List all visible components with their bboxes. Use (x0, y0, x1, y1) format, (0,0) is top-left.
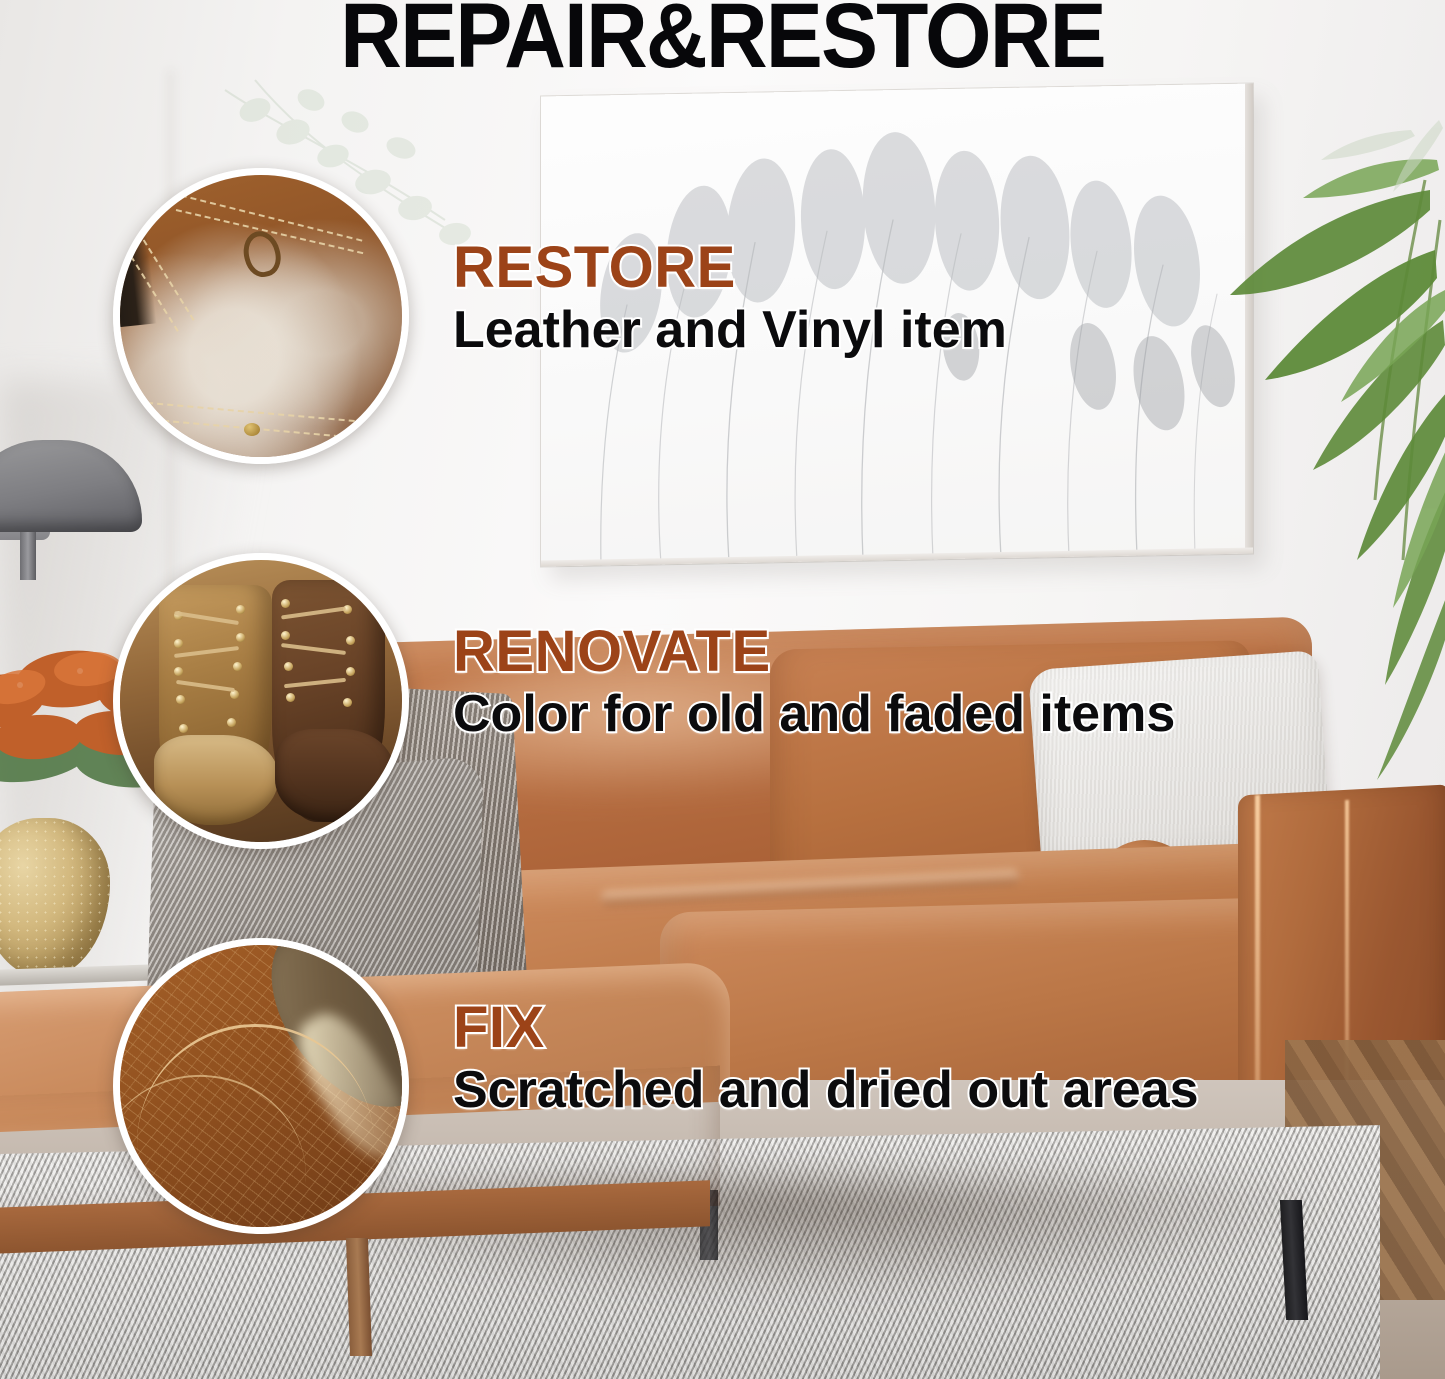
page-title: REPAIR&RESTORE (51, 0, 1395, 89)
eyelet (174, 639, 183, 648)
eyelet (174, 667, 183, 676)
scratched-leather-photo (120, 945, 402, 1227)
eyelet (346, 636, 355, 645)
eyelet (281, 631, 290, 640)
feature-block-fix: FIX Scratched and dried out areas (453, 998, 1199, 1118)
inset-photo-fix (113, 938, 409, 1234)
feature-kicker-fix: FIX (453, 998, 1199, 1058)
eyelet (236, 605, 245, 614)
feature-subtitle-renovate: Color for old and faded items (453, 686, 1175, 742)
eyelet (284, 662, 293, 671)
moldy-leather-bag-photo (120, 175, 402, 457)
work-boots-photo (120, 560, 402, 842)
feature-block-restore: RESTORE Leather and Vinyl item (453, 238, 1007, 358)
eyelet (179, 724, 188, 733)
feature-block-renovate: RENOVATE Color for old and faded items (453, 622, 1175, 742)
inset-photo-renovate (113, 553, 409, 849)
ottoman-leg (346, 1238, 372, 1356)
eyelet (286, 693, 295, 702)
feature-subtitle-fix: Scratched and dried out areas (453, 1062, 1199, 1118)
eyelet (227, 718, 236, 727)
feature-kicker-renovate: RENOVATE (453, 622, 1175, 682)
feature-subtitle-restore: Leather and Vinyl item (453, 302, 1007, 358)
inset-photo-restore (113, 168, 409, 464)
eyelet (346, 667, 355, 676)
product-infographic-poster: REPAIR&RESTORE RESTORE Leather and Vinyl… (0, 0, 1445, 1379)
eyelet (236, 633, 245, 642)
eyelet (343, 698, 352, 707)
boot-toe-restored (275, 729, 393, 822)
eyelet (233, 662, 242, 671)
feature-kicker-restore: RESTORE (453, 238, 1007, 298)
boot-toe-faded (154, 735, 278, 825)
